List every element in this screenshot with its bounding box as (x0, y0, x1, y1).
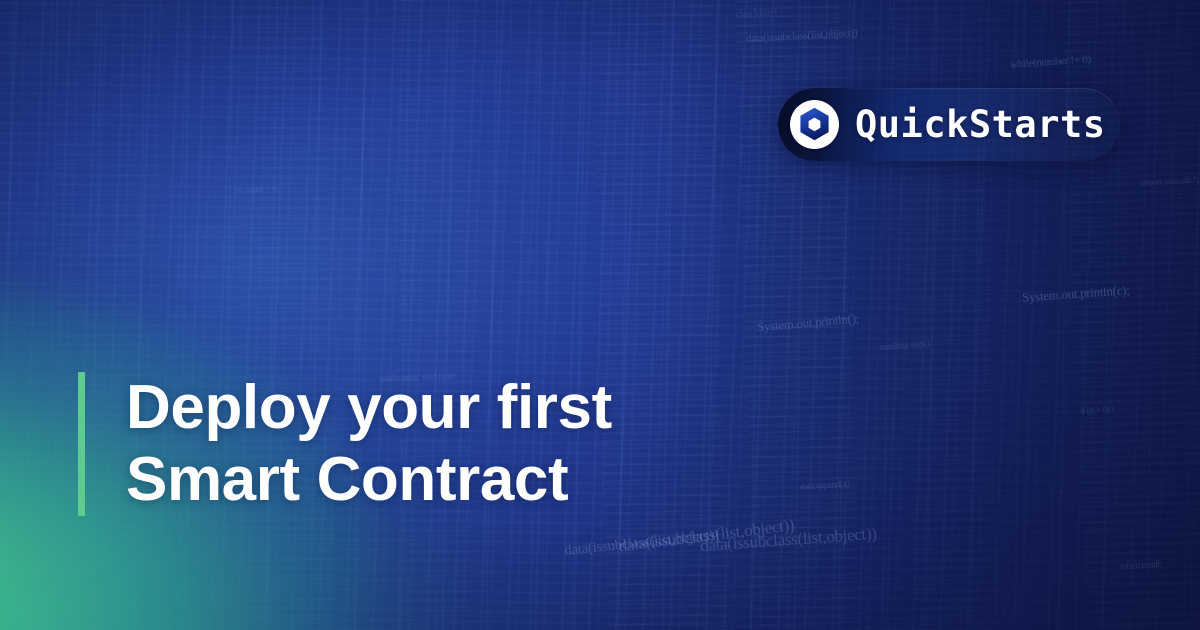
code-snippet: if (n > 0) { (1080, 404, 1116, 416)
headline-line-1: Deploy your first (126, 372, 612, 444)
quickstarts-badge[interactable]: QuickStarts (778, 88, 1120, 161)
code-snippet: int count = 0; (234, 183, 278, 195)
headline-block: Deploy your first Smart Contract (78, 372, 612, 516)
quickstarts-badge-label: QuickStarts (855, 103, 1106, 146)
headline-accent-bar (78, 372, 85, 516)
chainlink-hexagon-icon (790, 100, 839, 149)
page-title: Deploy your first Smart Contract (126, 372, 612, 516)
headline-line-2: Smart Contract (126, 444, 612, 516)
quickstarts-banner: data(issubclass(list,object))while(numbe… (0, 0, 1200, 630)
